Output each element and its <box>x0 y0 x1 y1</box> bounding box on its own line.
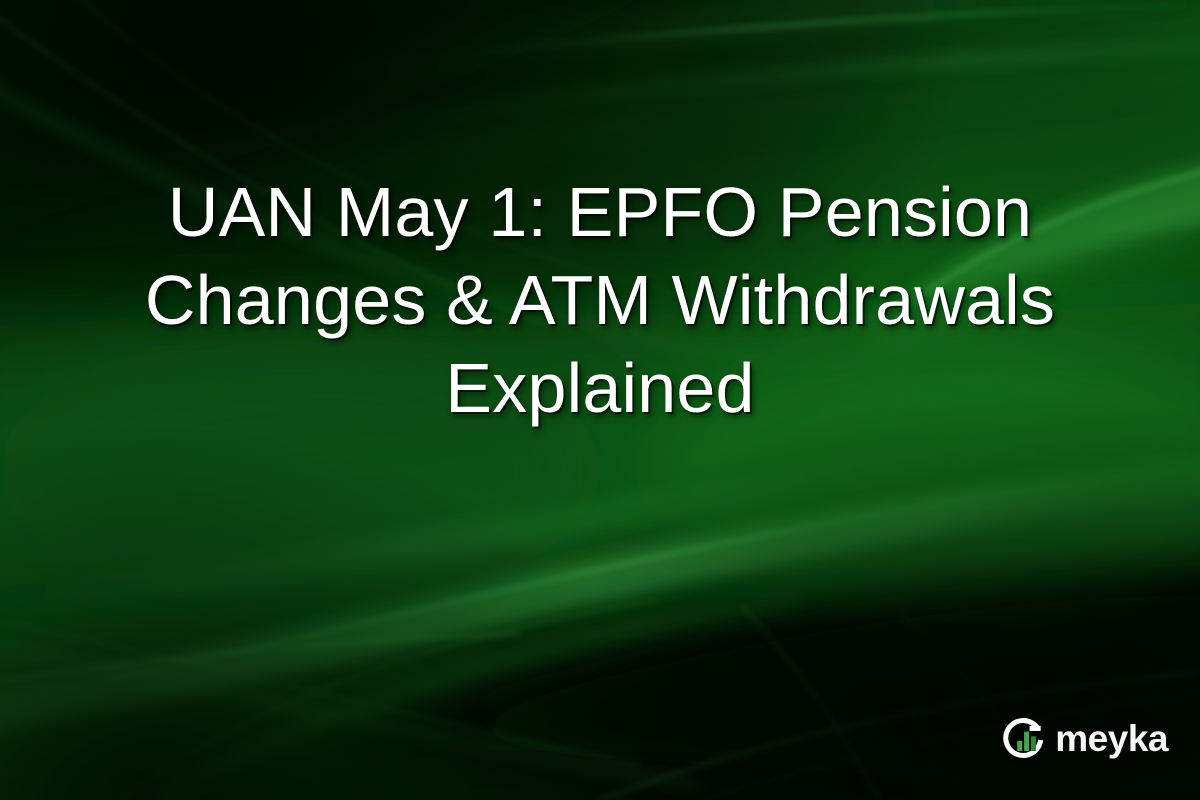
banner-title: UAN May 1: EPFO Pension Changes & ATM Wi… <box>60 168 1140 432</box>
meyka-bar-chart-ring-icon <box>1002 716 1048 762</box>
title-line-1: UAN May 1: EPFO Pension <box>60 168 1140 256</box>
brand-logo-lockup[interactable]: meyka <box>1002 716 1168 762</box>
brand-wordmark: meyka <box>1055 719 1168 759</box>
title-line-2: Changes & ATM Withdrawals <box>60 256 1140 344</box>
banner-canvas: UAN May 1: EPFO Pension Changes & ATM Wi… <box>0 0 1200 800</box>
title-line-3: Explained <box>60 344 1140 432</box>
